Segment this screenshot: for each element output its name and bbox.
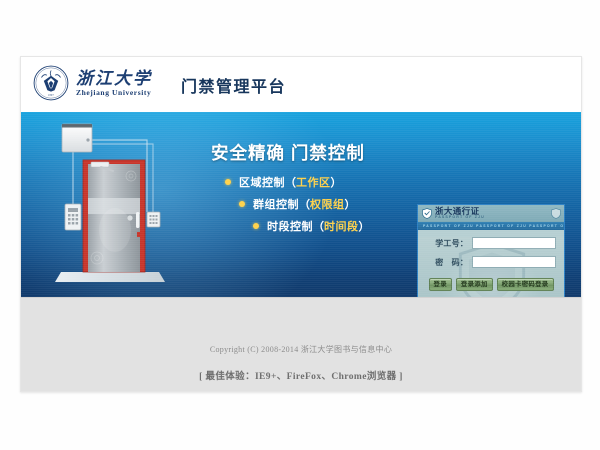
list-item: 区域控制 （ 工作区 ） [225, 174, 455, 190]
login-button[interactable]: 登录 [429, 278, 452, 291]
paren-close: ） [331, 174, 342, 190]
login-panel-subtitle: PASSPORT OF ZJU [435, 216, 485, 220]
login-add-button[interactable]: 登录添加 [456, 278, 493, 291]
shield-icon [422, 208, 432, 219]
login-panel: 浙大通行证 PASSPORT OF ZJU PASSPORT OF ZJU PA… [417, 204, 565, 297]
paren-open: （ [285, 174, 296, 190]
login-panel-header: 浙大通行证 PASSPORT OF ZJU [418, 205, 564, 222]
copyright-text: Copyright (C) 2008-2014 浙江大学图书与信息中心 [21, 344, 581, 355]
access-control-door-illustration [49, 120, 179, 292]
shield-watermark-icon [551, 208, 561, 219]
feature-label: 时段控制 [267, 218, 313, 234]
bullet-dot-icon [239, 201, 245, 207]
site-header: 1897 浙江大学 Zhejiang University 门禁管理平台 [21, 57, 581, 113]
feature-detail: 权限组 [310, 196, 345, 212]
page-root: 1897 浙江大学 Zhejiang University 门禁管理平台 [0, 0, 600, 450]
strip-text: PASSPORT OF ZJU PASSPORT OF ZJU PASSPORT… [418, 224, 564, 228]
campus-card-login-button[interactable]: 校园卡密码登录 [497, 278, 554, 291]
paren-open: （ [313, 218, 324, 234]
login-panel-title: 浙大通行证 [435, 207, 485, 216]
password-input[interactable] [472, 256, 556, 268]
login-form: 学工号： 密 码： 登录 登录添加 校园卡密码登录 [418, 237, 564, 297]
bullet-dot-icon [253, 223, 259, 229]
paren-close: ） [345, 196, 356, 212]
paren-close: ） [359, 218, 370, 234]
form-row-userid: 学工号： [418, 237, 564, 249]
site-footer: Copyright (C) 2008-2014 浙江大学图书与信息中心 [ 最佳… [21, 297, 581, 392]
feature-detail: 工作区 [296, 174, 331, 190]
browser-support-text: [ 最佳体验：IE9+、FireFox、Chrome浏览器 ] [21, 368, 581, 382]
password-label: 密 码： [424, 257, 468, 268]
bullet-dot-icon [225, 179, 231, 185]
feature-label: 群组控制 [253, 196, 299, 212]
feature-label: 区域控制 [239, 174, 285, 190]
form-row-password: 密 码： [418, 256, 564, 268]
page-title: 门禁管理平台 [181, 73, 286, 97]
content-card: 1897 浙江大学 Zhejiang University 门禁管理平台 [20, 56, 582, 392]
svg-text:1897: 1897 [48, 94, 54, 97]
userid-input[interactable] [472, 237, 556, 249]
feature-detail: 时间段 [324, 218, 359, 234]
login-button-row: 登录 登录添加 校园卡密码登录 [418, 278, 564, 291]
hero-banner: 安全精确 门禁控制 区域控制 （ 工作区 ） 群组控制 （ 权限组 ） [21, 112, 581, 297]
brand-name-en: Zhejiang University [76, 89, 152, 97]
login-panel-strip: PASSPORT OF ZJU PASSPORT OF ZJU PASSPORT… [418, 222, 564, 230]
brand-name-cn: 浙江大学 [76, 70, 152, 87]
brand-logo[interactable]: 1897 浙江大学 Zhejiang University [33, 65, 152, 101]
banner-headline: 安全精确 门禁控制 [211, 140, 365, 165]
zju-seal-icon: 1897 [33, 65, 69, 101]
userid-label: 学工号： [424, 238, 468, 249]
paren-open: （ [299, 196, 310, 212]
